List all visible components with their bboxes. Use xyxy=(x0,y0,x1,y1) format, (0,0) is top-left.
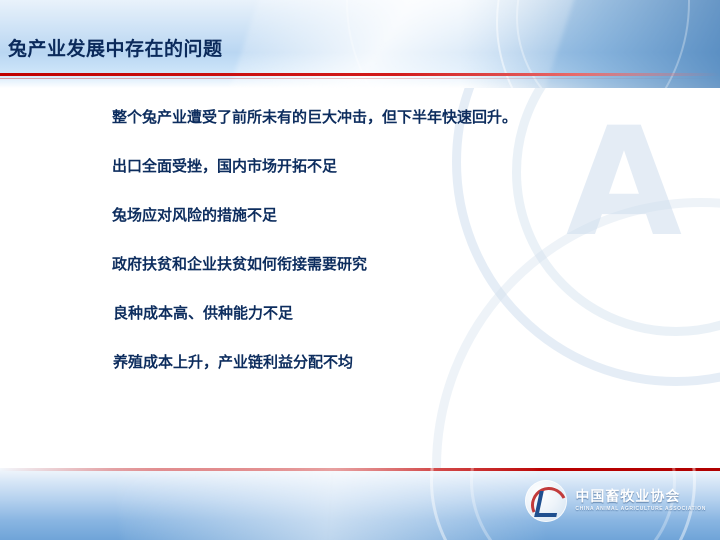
list-item: 良种成本高、供种能力不足 xyxy=(113,304,672,322)
logo-name-cn: 中国畜牧业协会 xyxy=(575,490,706,505)
list-item: 兔场应对风险的措施不足 xyxy=(112,206,672,224)
list-item: 出口全面受挫，国内市场开拓不足 xyxy=(112,157,672,175)
slide-footer-banner: 中国畜牧业协会 CHINA ANIMAL AGRICULTURE ASSOCIA… xyxy=(0,468,720,540)
footer-sheen xyxy=(113,468,547,540)
list-item: 整个兔产业遭受了前所未有的巨大冲击，但下半年快速回升。 xyxy=(112,108,672,126)
bullet-list: 整个兔产业遭受了前所未有的巨大冲击，但下半年快速回升。 出口全面受挫，国内市场开… xyxy=(112,108,672,402)
header-accent-rule-secondary xyxy=(0,78,720,79)
slide-header-banner: 兔产业发展中存在的问题 xyxy=(0,0,720,88)
organization-logo: 中国畜牧业协会 CHINA ANIMAL AGRICULTURE ASSOCIA… xyxy=(525,480,706,522)
logo-name-en: CHINA ANIMAL AGRICULTURE ASSOCIATION xyxy=(575,507,706,512)
slide: 兔产业发展中存在的问题 A 整个兔产业遭受了前所未有的巨大冲击，但下半年快速回升… xyxy=(0,0,720,540)
list-item: 政府扶贫和企业扶贫如何衔接需要研究 xyxy=(112,255,672,273)
association-emblem-icon xyxy=(525,480,567,522)
page-title: 兔产业发展中存在的问题 xyxy=(8,34,223,61)
logo-text-block: 中国畜牧业协会 CHINA ANIMAL AGRICULTURE ASSOCIA… xyxy=(575,490,706,513)
header-accent-rule xyxy=(0,73,720,76)
list-item: 养殖成本上升，产业链利益分配不均 xyxy=(113,353,672,371)
slide-body: A 整个兔产业遭受了前所未有的巨大冲击，但下半年快速回升。 出口全面受挫，国内市… xyxy=(0,88,720,468)
